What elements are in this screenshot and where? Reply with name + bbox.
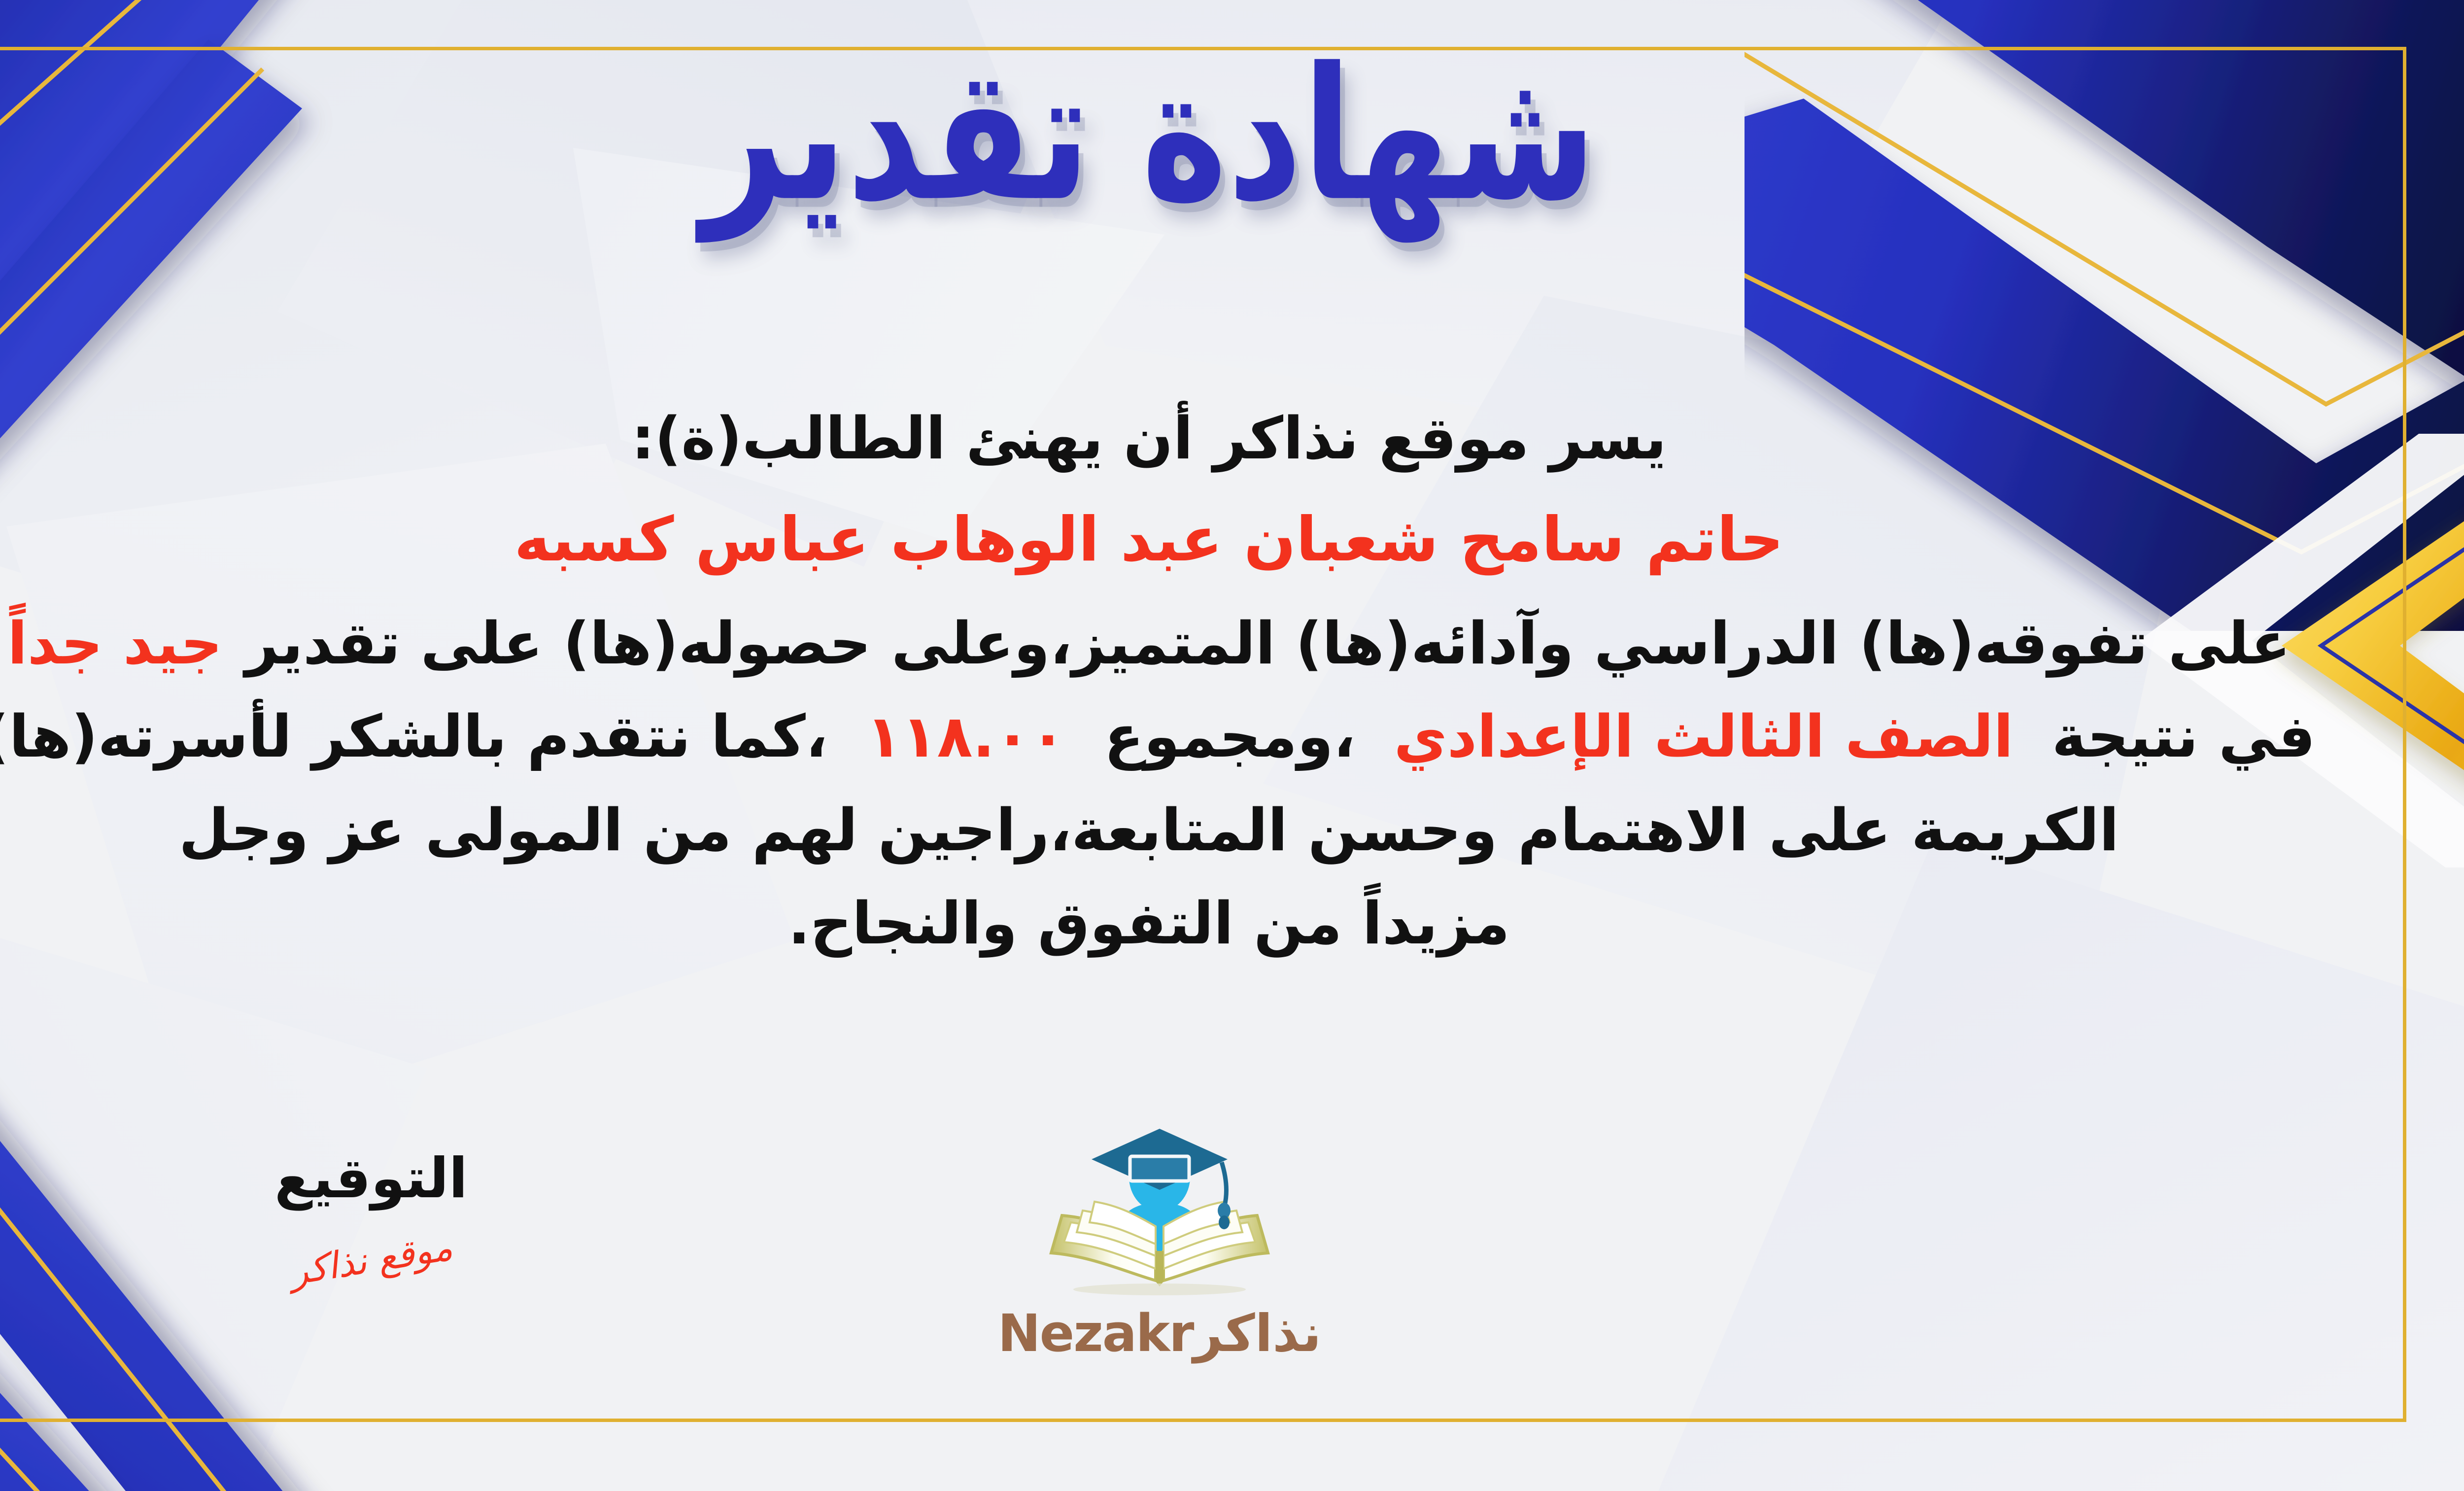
grade-total-line: في نتيجةالصف الثالث الإعدادي،ومجموع١١٨.٠…	[0, 693, 2370, 781]
logo-wordmark: نذاكرNezakr	[962, 1303, 1357, 1363]
closing-line: مزيداً من التفوق والنجاح.	[0, 879, 2370, 968]
result-prefix: في نتيجة	[2052, 702, 2316, 770]
signature-block: التوقيع موقع نذاكر	[218, 1148, 524, 1281]
graduate-book-logo-icon	[1031, 1124, 1288, 1301]
certificate-title-text: شهادة تقدير	[701, 44, 1597, 227]
site-logo: نذاكرNezakr	[962, 1124, 1357, 1363]
certificate-page: شهادة تقدير يسر موقع نذاكر أن يهنئ الطال…	[0, 0, 2464, 1491]
total-label: ،ومجموع	[1104, 702, 1355, 770]
thanks-prefix: ،كما نتقدم بالشكر لأسرته(ها)	[0, 702, 828, 770]
certificate-body: يسر موقع نذاكر أن يهنئ الطالب(ة): حاتم س…	[0, 394, 2370, 968]
total-score: ١١٨.٠٠	[866, 702, 1066, 770]
certificate-title: شهادة تقدير	[0, 47, 2464, 224]
grade-level: الصف الثالث الإعدادي	[1394, 702, 2013, 770]
family-thanks-line: الكريمة على الاهتمام وحسن المتابعة،راجين…	[0, 786, 2370, 874]
grade-rating: جيد جداً	[7, 609, 222, 677]
signature-label: التوقيع	[218, 1148, 524, 1209]
achievement-text: على تفوقه(ها) الدراسي وآدائه(ها) المتميز…	[245, 609, 2291, 677]
student-name: حاتم سامح شعبان عبد الوهاب عباس كسبه	[0, 493, 2370, 586]
achievement-line: على تفوقه(ها) الدراسي وآدائه(ها) المتميز…	[0, 599, 2370, 688]
intro-line: يسر موقع نذاكر أن يهنئ الطالب(ة):	[0, 394, 2370, 483]
